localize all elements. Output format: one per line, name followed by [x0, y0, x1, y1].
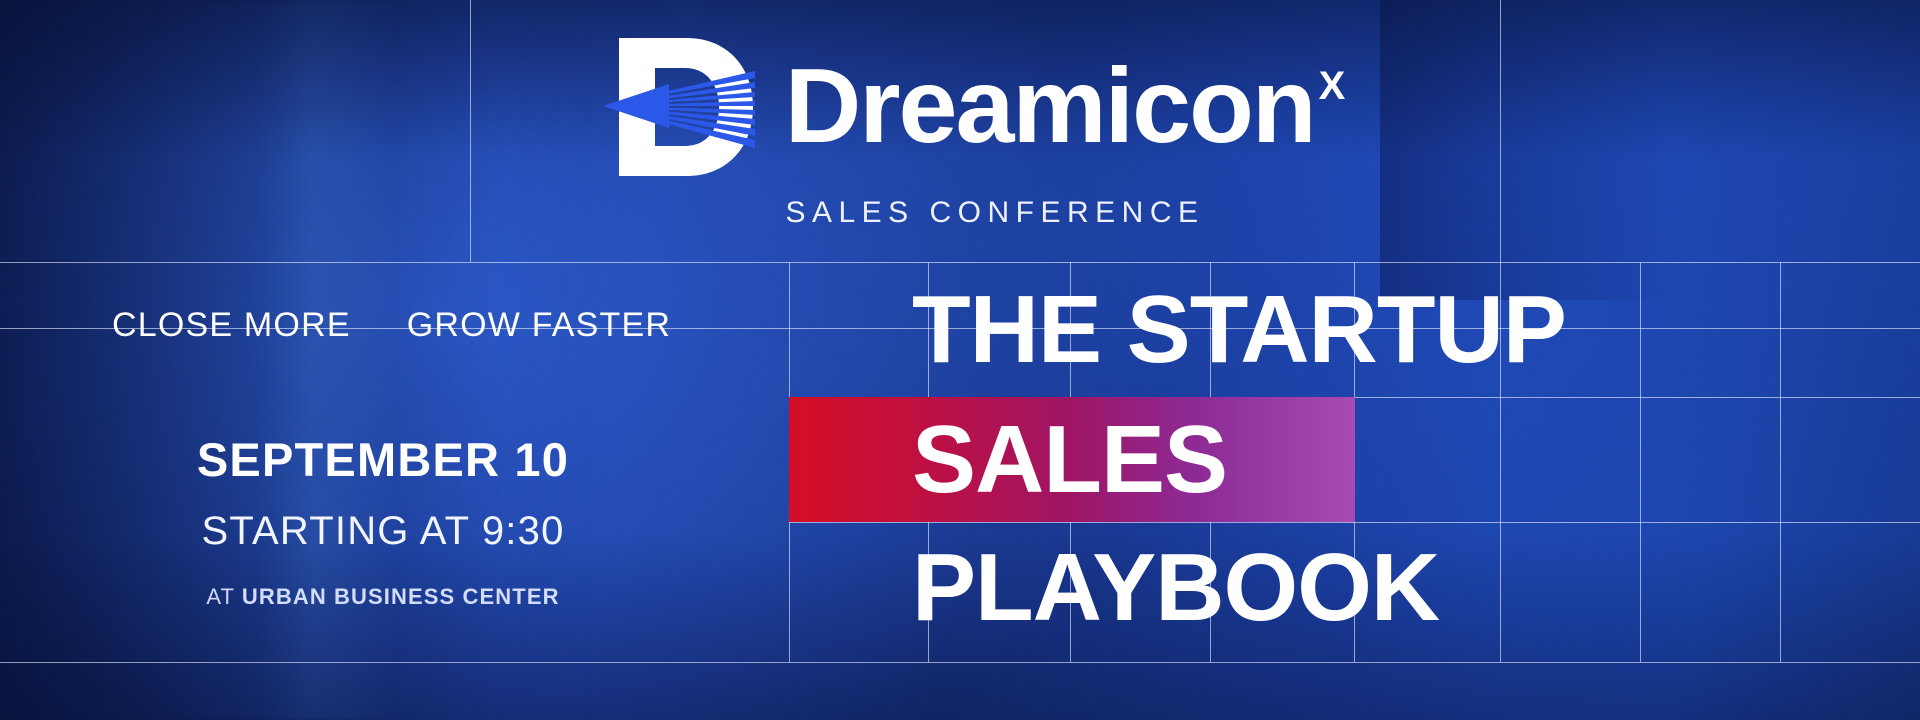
event-venue-name: URBAN BUSINESS CENTER — [242, 584, 560, 609]
event-venue-prefix: AT — [206, 584, 234, 609]
brand-lockup: Dreamicon X SALES CONFERENCE — [603, 32, 1344, 230]
headline-block: THE STARTUP — [912, 282, 1912, 392]
brand-name: Dreamicon — [785, 56, 1315, 158]
brand-wordmark: Dreamicon X — [785, 56, 1344, 158]
brand-lockup-row: Dreamicon X — [603, 32, 1344, 182]
headline-line-1: THE STARTUP — [912, 282, 1912, 378]
tagline-close-more: CLOSE MORE — [112, 306, 351, 345]
dreamicon-d-beam-logo-icon — [603, 32, 763, 182]
tagline-row: CLOSE MORE GROW FASTER — [112, 306, 671, 345]
brand-subtitle: SALES CONFERENCE — [785, 196, 1204, 230]
event-date: SEPTEMBER 10 — [197, 432, 569, 487]
brand-header: Dreamicon X SALES CONFERENCE — [0, 0, 1920, 262]
headline-line-3: PLAYBOOK — [912, 540, 1912, 636]
brand-superscript: X — [1319, 66, 1344, 106]
tagline-grow-faster: GROW FASTER — [407, 306, 671, 345]
event-details: SEPTEMBER 10 STARTING AT 9:30 AT URBAN B… — [0, 432, 790, 610]
headline-block-3: PLAYBOOK — [912, 540, 1912, 636]
event-venue-line: AT URBAN BUSINESS CENTER — [206, 584, 559, 610]
conference-banner: Dreamicon X SALES CONFERENCE CLOSE MORE … — [0, 0, 1920, 720]
headline-line-2: SALES — [912, 397, 1227, 522]
event-time: STARTING AT 9:30 — [201, 509, 564, 554]
